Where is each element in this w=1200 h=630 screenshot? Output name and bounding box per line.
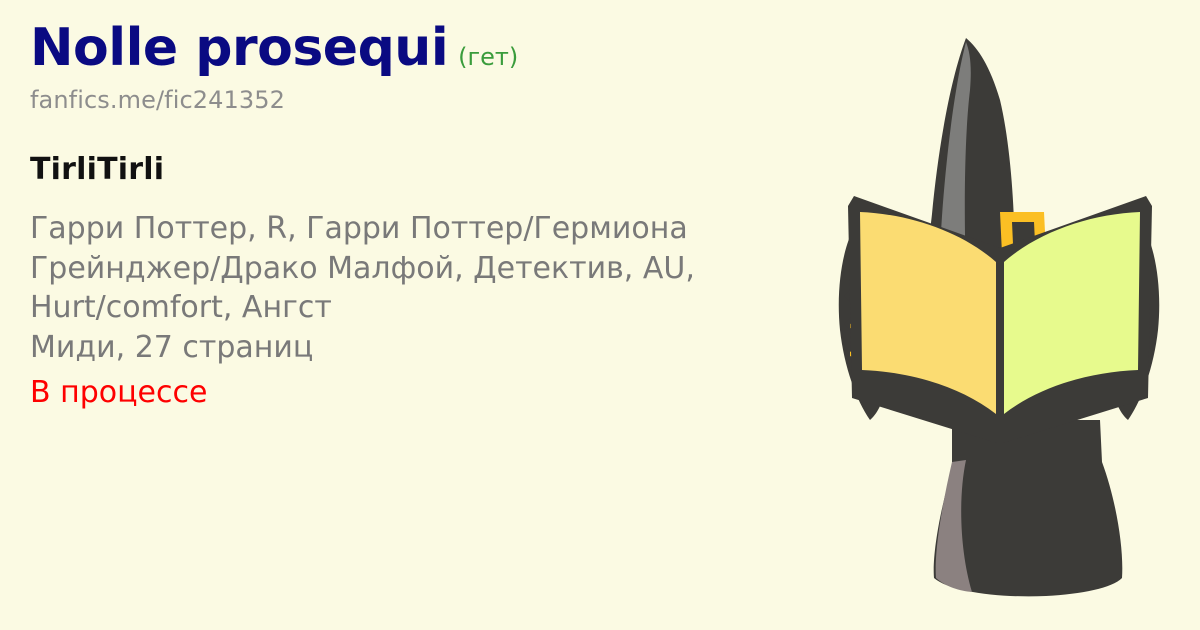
- witch-reading-book-illustration: [800, 0, 1200, 630]
- status-badge: В процессе: [30, 373, 820, 413]
- fanfic-preview-card: Nolle prosequi(гет) fanfics.me/fic241352…: [0, 0, 1200, 630]
- open-book: [848, 196, 1152, 446]
- fic-metadata: Гарри Поттер, R, Гарри Поттер/Гермиона Г…: [30, 209, 820, 328]
- book-spine: [997, 258, 1003, 446]
- witch-hat: [856, 38, 1100, 276]
- category-badge: (гет): [458, 43, 518, 71]
- title-row: Nolle prosequi(гет): [30, 22, 820, 74]
- book-page-left: [860, 212, 996, 414]
- robe-shape: [934, 420, 1123, 596]
- left-hand: [839, 228, 892, 420]
- hat-buckle-icon: [1000, 212, 1046, 254]
- book-page-right: [1004, 212, 1140, 414]
- author-name: TirliTirli: [30, 152, 820, 187]
- right-hand: [1106, 228, 1159, 420]
- source-url: fanfics.me/fic241352: [30, 86, 820, 114]
- fic-size: Миди, 27 страниц: [30, 328, 820, 368]
- text-column: Nolle prosequi(гет) fanfics.me/fic241352…: [30, 22, 820, 413]
- page-title: Nolle prosequi: [30, 18, 448, 78]
